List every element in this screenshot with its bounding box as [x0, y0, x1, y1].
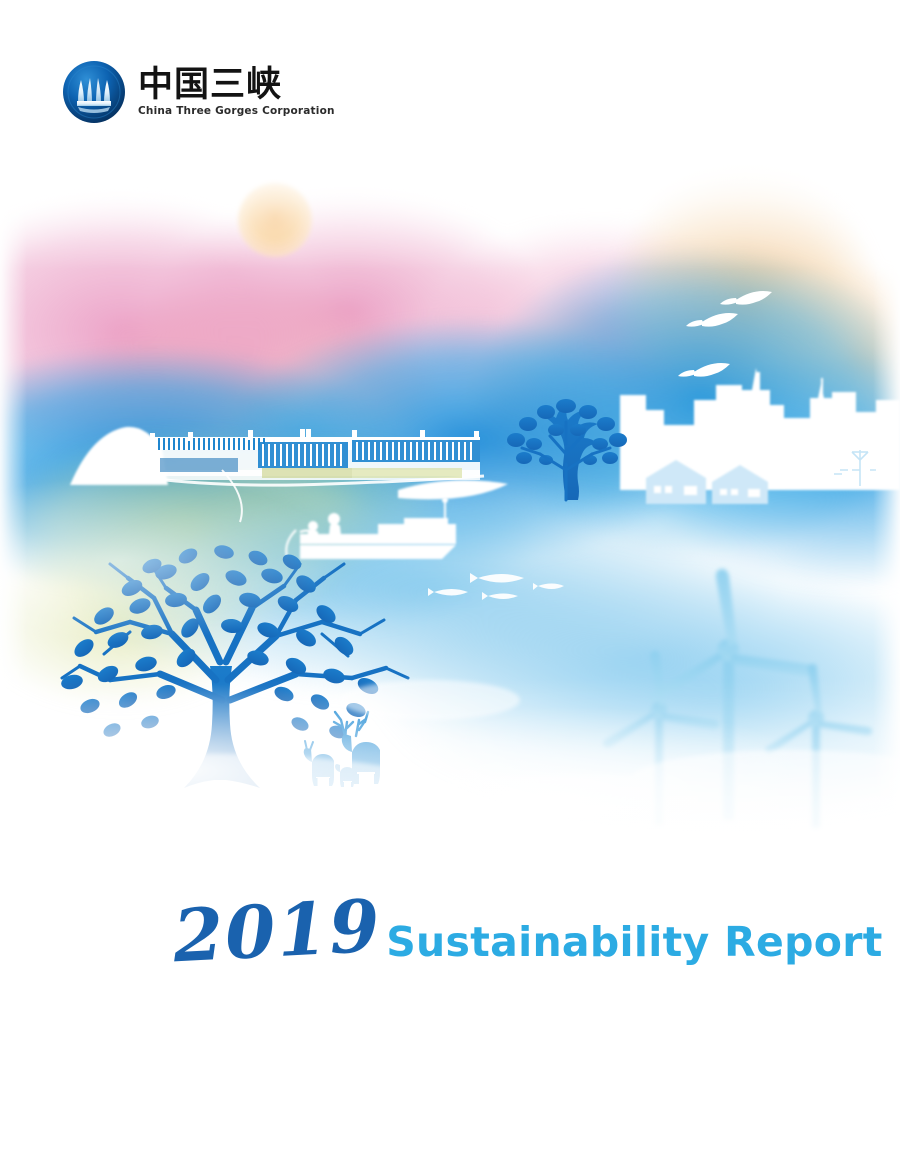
- side-fade: [0, 0, 900, 1171]
- three-gorges-dam-emblem-icon: [62, 60, 126, 124]
- cover-title-block: 2019 Sustainability Report: [0, 895, 900, 967]
- cover-illustration: [0, 0, 900, 1171]
- company-logo[interactable]: 中国三峡 China Three Gorges Corporation: [62, 60, 335, 124]
- logo-company-name-cn: 中国三峡: [138, 67, 335, 104]
- report-year: 2019: [172, 890, 384, 973]
- report-title: Sustainability Report: [386, 922, 882, 963]
- logo-wordmark: 中国三峡 China Three Gorges Corporation: [138, 67, 335, 118]
- report-cover-page: 中国三峡 China Three Gorges Corporation 2019…: [0, 0, 900, 1171]
- logo-company-name-en: China Three Gorges Corporation: [138, 105, 335, 117]
